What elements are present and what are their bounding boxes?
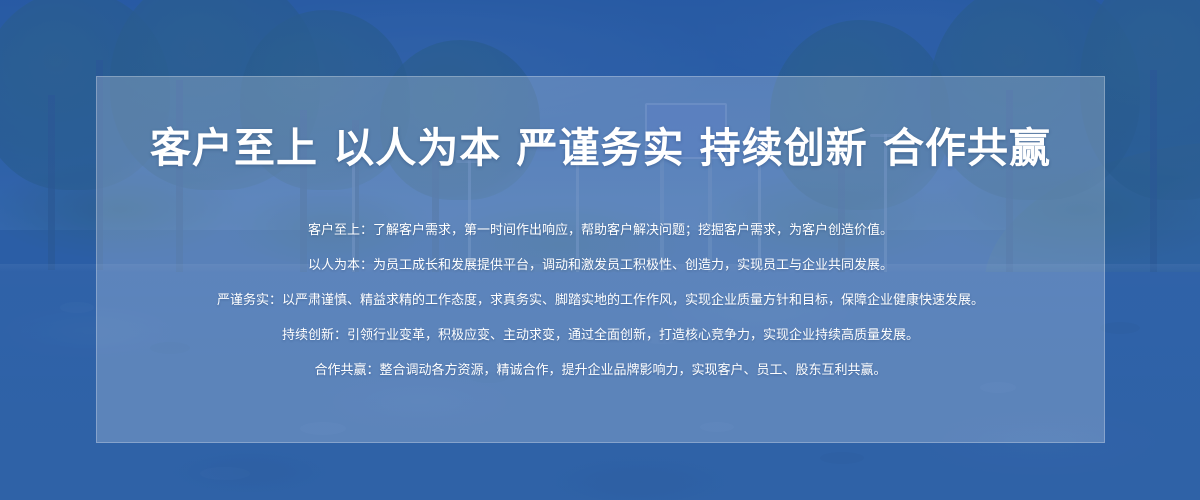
content-panel: 客户至上 以人为本 严谨务实 持续创新 合作共赢 客户至上：了解客户需求，第一时…: [96, 76, 1105, 443]
list-item: 严谨务实：以严肃谨慎、精益求精的工作态度，求真务实、脚踏实地的工作作风，实现企业…: [97, 283, 1104, 318]
values-banner: 客户至上 以人为本 严谨务实 持续创新 合作共赢 客户至上：了解客户需求，第一时…: [0, 0, 1200, 500]
list-item: 客户至上：了解客户需求，第一时间作出响应，帮助客户解决问题；挖掘客户需求，为客户…: [97, 213, 1104, 248]
list-item: 持续创新：引领行业变革，积极应变、主动求变，通过全面创新，打造核心竞争力，实现企…: [97, 318, 1104, 353]
values-list: 客户至上：了解客户需求，第一时间作出响应，帮助客户解决问题；挖掘客户需求，为客户…: [97, 213, 1104, 388]
list-item: 以人为本：为员工成长和发展提供平台，调动和激发员工积极性、创造力，实现员工与企业…: [97, 248, 1104, 283]
page-title: 客户至上 以人为本 严谨务实 持续创新 合作共赢: [97, 125, 1104, 172]
list-item: 合作共赢：整合调动各方资源，精诚合作，提升企业品牌影响力，实现客户、员工、股东互…: [97, 353, 1104, 388]
